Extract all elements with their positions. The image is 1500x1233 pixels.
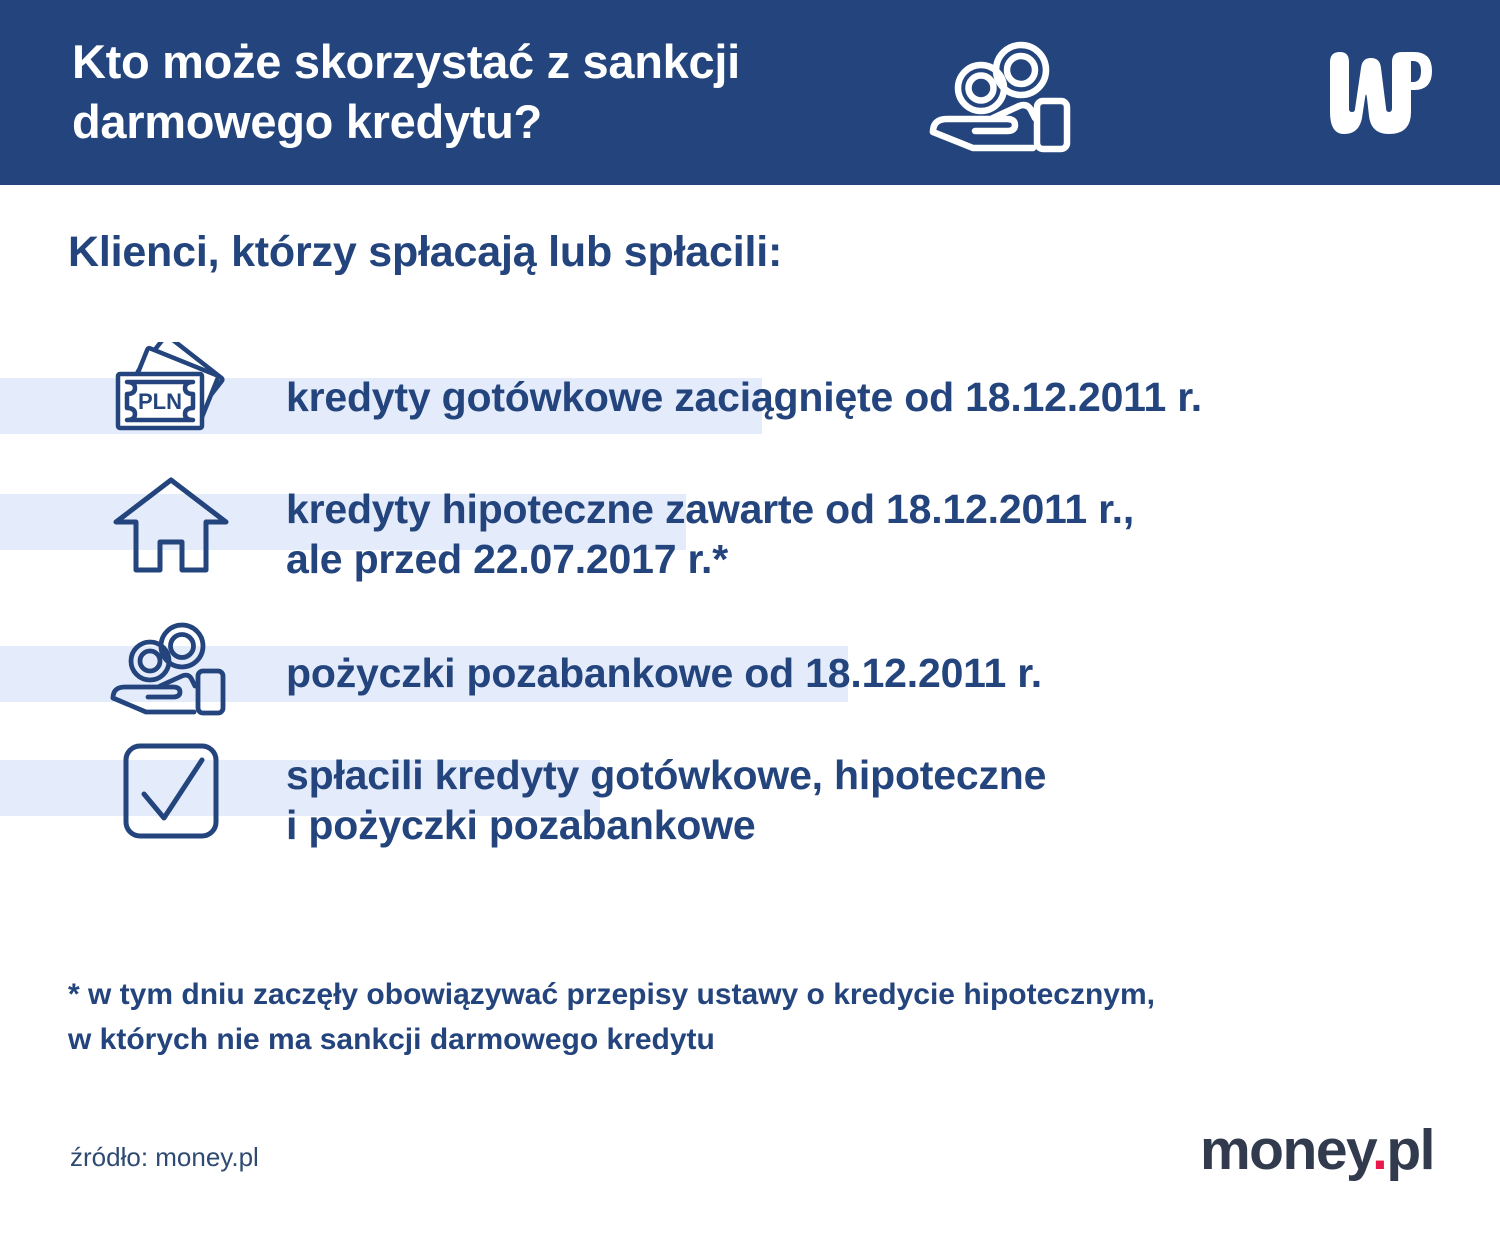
coins-in-hand-icon xyxy=(915,40,1085,155)
footnote: * w tym dniu zaczęły obowiązywać przepis… xyxy=(68,972,1438,1062)
subtitle: Klienci, którzy spłacają lub spłacili: xyxy=(68,228,782,277)
list-item: PLN kredyty gotówkowe zaciągnięte od 18.… xyxy=(0,342,1500,452)
money-logo-dot: . xyxy=(1372,1118,1386,1182)
wp-logo xyxy=(1318,46,1438,142)
page-title: Kto może skorzystać z sankcji darmowego … xyxy=(72,32,952,151)
money-logo-text: money xyxy=(1200,1118,1372,1182)
house-icon xyxy=(108,470,234,580)
infographic-root: Kto może skorzystać z sankcji darmowego … xyxy=(0,0,1500,1233)
list-item-text: kredyty hipoteczne zawarte od 18.12.2011… xyxy=(286,470,1134,584)
list-item-text: kredyty gotówkowe zaciągnięte od 18.12.2… xyxy=(286,342,1202,422)
money-pl-logo: money.pl xyxy=(1200,1122,1434,1179)
list-item: kredyty hipoteczne zawarte od 18.12.2011… xyxy=(0,470,1500,584)
coins-in-hand-icon xyxy=(108,618,234,728)
source-label: źródło: money.pl xyxy=(70,1142,259,1173)
header-banner: Kto może skorzystać z sankcji darmowego … xyxy=(0,0,1500,185)
list-item: pożyczki pozabankowe od 18.12.2011 r. xyxy=(0,618,1500,728)
list-item: spłacili kredyty gotówkowe, hipoteczne i… xyxy=(0,736,1500,850)
list-item-text: pożyczki pozabankowe od 18.12.2011 r. xyxy=(286,618,1042,698)
money-logo-suffix: pl xyxy=(1386,1118,1434,1182)
pln-label: PLN xyxy=(138,389,182,414)
banknotes-pln-icon: PLN xyxy=(108,342,234,452)
checkbox-check-icon xyxy=(108,736,234,846)
list-item-text: spłacili kredyty gotówkowe, hipoteczne i… xyxy=(286,736,1046,850)
